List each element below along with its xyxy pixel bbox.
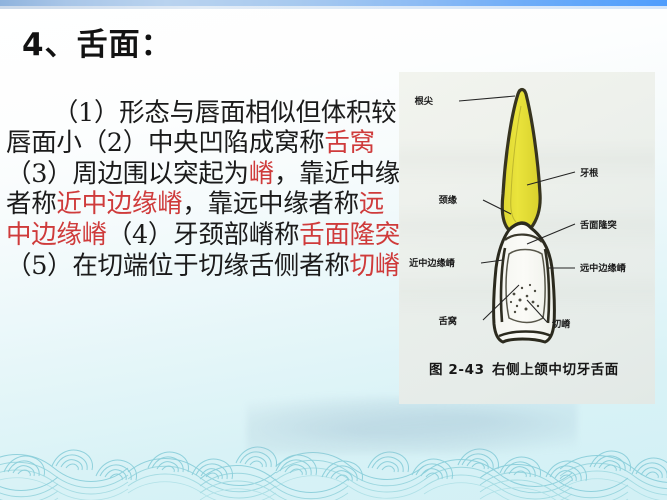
- top-accent-bar-shadow: [0, 6, 667, 9]
- item-3-highlight: 嵴: [249, 159, 274, 189]
- slide-text-column: 4、舌面： （1）形态与唇面相似但体积较唇面小（2）中央凹陷成窝称舌窝（3）周边…: [0, 30, 400, 312]
- item-2-marker: （2）: [82, 128, 148, 158]
- tooth-diagram: 根尖 牙根 颈缘 舌面隆突 近中边缘嵴 远中边缘嵴 舌窝 切嵴 图 2-43 右…: [399, 72, 655, 404]
- item-4-highlight: 近中边缘嵴: [56, 189, 182, 219]
- item-6-highlight: 舌面隆突: [299, 220, 400, 250]
- item-3-text: 周边围以突起为: [72, 159, 248, 189]
- item-2-text: 中央凹陷成窝称: [148, 128, 324, 158]
- tooth-root-shape: [502, 90, 540, 231]
- body-paragraph: （1）形态与唇面相似但体积较唇面小（2）中央凹陷成窝称舌窝（3）周边围以突起为嵴…: [6, 67, 400, 312]
- item-7-marker: （5）: [6, 251, 72, 281]
- item-2-highlight: 舌窝: [324, 128, 374, 158]
- tooth-crown-shape: [494, 223, 555, 342]
- item-8-text: 者称: [299, 251, 349, 281]
- figure-caption-text: 右侧上颌中切牙舌面: [492, 361, 619, 378]
- label-lingual-cingulum: 舌面隆突: [580, 219, 618, 231]
- item-1-marker: （1）: [53, 98, 119, 128]
- cloud-smudge-decoration: [247, 396, 577, 454]
- tooth-figure-panel: 根尖 牙根 颈缘 舌面隆突 近中边缘嵴 远中边缘嵴 舌窝 切嵴 图 2-43 右…: [399, 72, 655, 404]
- item-6-marker: （4）: [107, 220, 173, 250]
- label-cervical-margin: 颈缘: [439, 194, 458, 206]
- label-mesial-ridge: 近中边缘嵴: [409, 257, 456, 269]
- label-distal-ridge: 远中边缘嵴: [580, 262, 627, 274]
- label-incisal-ridge: 切嵴: [552, 318, 571, 330]
- item-4-tail: ，: [182, 189, 207, 219]
- label-root-apex: 根尖: [415, 95, 434, 107]
- item-5-text: 靠远中缘者称: [208, 189, 359, 219]
- item-7-text: 在切端位于切缘舌侧: [72, 251, 299, 281]
- item-3-tail: ，: [274, 159, 299, 189]
- label-lingual-fossa: 舌窝: [439, 315, 457, 327]
- page-title: 4、舌面：: [22, 30, 400, 61]
- item-3-marker: （3）: [6, 159, 72, 189]
- item-6-text: 牙颈部嵴称: [173, 220, 299, 250]
- figure-caption-number: 图 2-43: [429, 362, 485, 378]
- label-tooth-root: 牙根: [580, 167, 599, 179]
- wave-decoration: [0, 428, 667, 500]
- item-8-highlight: 切嵴: [350, 251, 400, 281]
- slide-canvas: 4、舌面： （1）形态与唇面相似但体积较唇面小（2）中央凹陷成窝称舌窝（3）周边…: [0, 0, 667, 500]
